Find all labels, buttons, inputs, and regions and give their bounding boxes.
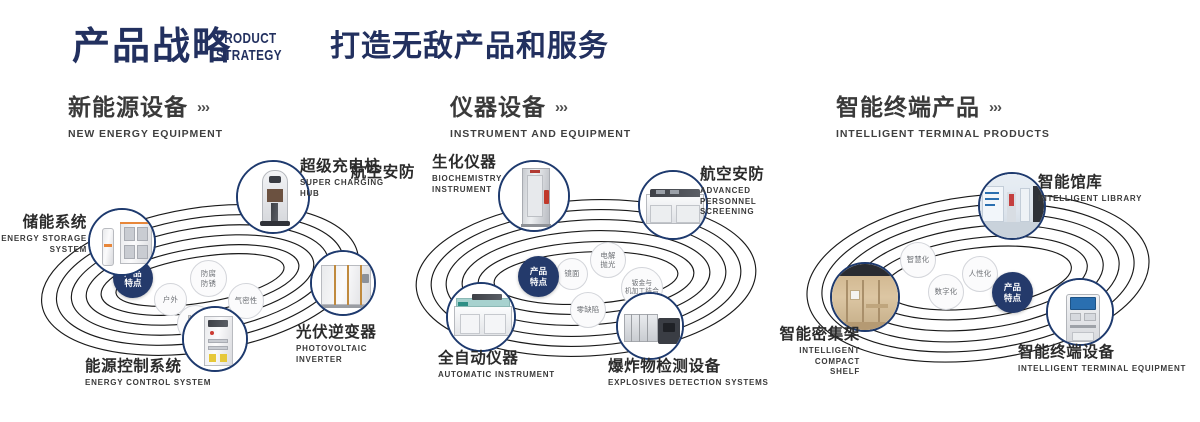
node-label-en: ENERGY STORAGE SYSTEM [1, 234, 87, 255]
node-label-en: INTELLIGENT COMPACT SHELF [779, 346, 860, 378]
section-title-cn: 智能终端产品››› [836, 96, 1050, 119]
node-label-en: EXPLOSIVES DETECTION SYSTEMS [608, 378, 769, 389]
node-label-cn: 航空安防 [351, 164, 415, 181]
core-bubble: 产品 特点 [992, 272, 1033, 313]
node-caption-automatic-instrument: 全自动仪器 AUTOMATIC INSTRUMENT [438, 350, 555, 381]
node-label-cn: 全自动仪器 [438, 350, 555, 367]
headline: 打造无敌产品和服务 [330, 32, 609, 62]
node-automatic-instrument[interactable] [446, 282, 516, 352]
cluster-instrument: 镜面 电解 抛光 零缺陷 钣金与 机加工结合 产品 特点 航空安防 生化仪器 B… [390, 150, 790, 420]
node-caption-intelligent-terminal-equipment: 智能终端设备 INTELLIGENT TERMINAL EQUIPMENT [1018, 344, 1186, 375]
cluster-new-energy: 户外 防腐 防锈 防水 防尘 气密性 产品 特点 储能系统 ENERGY STO… [0, 150, 400, 420]
node-label-en: AUTOMATIC INSTRUMENT [438, 370, 555, 381]
node-caption-advanced-personnel-screening: 航空安防 ADVANCED PERSONNEL SCREENING [700, 166, 790, 218]
section-title-cn-text: 智能终端产品 [836, 94, 980, 120]
node-explosives-detection-systems[interactable] [616, 292, 684, 360]
section-title-en: INTELLIGENT TERMINAL PRODUCTS [836, 128, 1050, 140]
node-label-cn: 储能系统 [1, 214, 87, 231]
node-label-en: ENERGY CONTROL SYSTEM [85, 378, 211, 389]
node-super-charging-hub[interactable] [236, 160, 310, 234]
node-label-cn: 智能馆库 [1038, 174, 1142, 191]
node-label-en: ADVANCED PERSONNEL SCREENING [700, 186, 790, 218]
node-caption-intelligent-library: 智能馆库 INTELLIGENT LIBRARY [1038, 174, 1142, 205]
section-heading-new-energy: 新能源设备››› NEW ENERGY EQUIPMENT [68, 96, 223, 140]
core-bubble: 产品 特点 [518, 256, 559, 297]
node-caption-energy-control-system: 能源控制系统 ENERGY CONTROL SYSTEM [85, 358, 211, 389]
feature-tag: 镜面 [556, 258, 588, 290]
photo-super-charging-hub [238, 162, 308, 232]
node-intelligent-compact-shelf[interactable] [830, 262, 900, 332]
section-heading-intelligent-terminal: 智能终端产品››› INTELLIGENT TERMINAL PRODUCTS [836, 96, 1050, 140]
chevrons-icon: ››› [197, 100, 209, 115]
node-biochemistry-instrument[interactable] [498, 160, 570, 232]
node-advanced-personnel-screening[interactable] [638, 170, 708, 240]
brand-title-en: PRODUCT STRATEGY [216, 31, 282, 65]
node-caption-photovoltaic-inverter: 光伏逆变器 PHOTOVOLTAIC INVERTER [296, 324, 400, 365]
section-heading-instrument: 仪器设备››› INSTRUMENT AND EQUIPMENT [450, 96, 631, 140]
node-caption-biochemistry-instrument: 生化仪器 BIOCHEMISTRY INSTRUMENT [432, 154, 502, 195]
section-title-cn: 仪器设备››› [450, 96, 631, 119]
photo-intelligent-terminal-equipment [1048, 280, 1112, 344]
label-advanced-personnel-screening-left: 航空安防 [351, 164, 415, 181]
feature-tag: 电解 抛光 [590, 242, 626, 278]
node-label-cn: 光伏逆变器 [296, 324, 400, 341]
node-caption-explosives-detection-systems: 爆炸物检测设备 EXPLOSIVES DETECTION SYSTEMS [608, 358, 769, 389]
cluster-intelligent-terminal: 智慧化 数字化 人性化 产品 特点 智能馆库 INTELLIGENT LIBRA… [790, 150, 1190, 420]
section-title-en: INSTRUMENT AND EQUIPMENT [450, 128, 631, 140]
chevrons-icon: ››› [989, 100, 1001, 115]
node-label-en: BIOCHEMISTRY INSTRUMENT [432, 174, 502, 195]
photo-intelligent-library [980, 174, 1044, 238]
feature-tag: 智慧化 [900, 242, 936, 278]
node-label-en: INTELLIGENT TERMINAL EQUIPMENT [1018, 364, 1186, 375]
node-energy-storage-system[interactable] [88, 208, 156, 276]
photo-intelligent-compact-shelf [832, 264, 898, 330]
node-intelligent-terminal-equipment[interactable] [1046, 278, 1114, 346]
photo-energy-storage-system [90, 210, 154, 274]
feature-tag: 防腐 防锈 [190, 260, 227, 297]
photo-photovoltaic-inverter [312, 252, 374, 314]
node-label-en: PHOTOVOLTAIC INVERTER [296, 344, 400, 365]
feature-tag: 数字化 [928, 274, 964, 310]
node-label-cn: 智能密集架 [779, 326, 860, 343]
node-photovoltaic-inverter[interactable] [310, 250, 376, 316]
node-label-en: SUPER CHARGING HUB [300, 178, 400, 199]
photo-explosives-detection-systems [618, 294, 682, 358]
page-header: 产品战略 PRODUCT STRATEGY 打造无敌产品和服务 [0, 0, 1200, 86]
node-label-cn: 智能终端设备 [1018, 344, 1186, 361]
node-caption-energy-storage-system: 储能系统 ENERGY STORAGE SYSTEM [1, 214, 87, 255]
section-title-cn-text: 新能源设备 [68, 94, 188, 120]
node-intelligent-library[interactable] [978, 172, 1046, 240]
brand-title-cn: 产品战略 [72, 28, 232, 66]
node-caption-intelligent-compact-shelf: 智能密集架 INTELLIGENT COMPACT SHELF [779, 326, 860, 378]
node-label-cn: 航空安防 [700, 166, 790, 183]
section-title-cn-text: 仪器设备 [450, 94, 546, 120]
node-label-en: INTELLIGENT LIBRARY [1038, 194, 1142, 205]
photo-advanced-personnel-screening [640, 172, 706, 238]
node-label-cn: 爆炸物检测设备 [608, 358, 769, 375]
chevrons-icon: ››› [555, 100, 567, 115]
photo-biochemistry-instrument [500, 162, 568, 230]
section-title-cn: 新能源设备››› [68, 96, 223, 119]
section-title-en: NEW ENERGY EQUIPMENT [68, 128, 223, 140]
node-label-cn: 能源控制系统 [85, 358, 211, 375]
node-label-cn: 生化仪器 [432, 154, 502, 171]
photo-automatic-instrument [448, 284, 514, 350]
feature-tag: 零缺陷 [570, 292, 606, 328]
